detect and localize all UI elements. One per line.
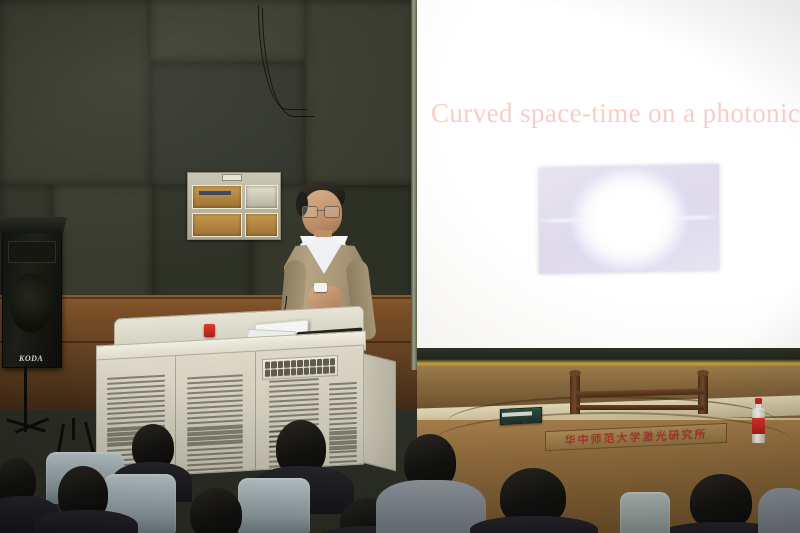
- vent-slot: [187, 389, 243, 394]
- vent-slot: [329, 382, 357, 386]
- vent-slot: [187, 384, 243, 389]
- control-button[interactable]: [278, 369, 283, 376]
- projection-screen: Curved space-time on a photonic: [417, 0, 800, 362]
- panel-cell: [192, 185, 242, 209]
- vent-slot: [269, 408, 319, 413]
- speaker-horn: [8, 241, 56, 263]
- control-button[interactable]: [291, 368, 296, 375]
- vent-slot: [269, 388, 319, 393]
- vent-slot: [329, 412, 357, 416]
- glasses-lens-right: [324, 206, 340, 218]
- bench-rail: [576, 405, 704, 410]
- vent-slot: [269, 383, 319, 388]
- control-button[interactable]: [271, 369, 276, 376]
- vent-slot: [329, 392, 357, 396]
- panel-cell: [192, 213, 242, 237]
- vent-slot: [187, 409, 243, 414]
- control-button[interactable]: [317, 367, 322, 374]
- book-pages: [502, 411, 532, 417]
- control-button[interactable]: [323, 367, 328, 374]
- vent-slot: [187, 399, 243, 404]
- audience-rows: [0, 418, 800, 533]
- wall-panel: [52, 185, 153, 306]
- vent-slot: [269, 403, 319, 408]
- audience-shoulders: [470, 516, 598, 533]
- podium-red-cup: [204, 324, 215, 337]
- wall-panel: [305, 0, 416, 186]
- glow-wing-right-icon: [671, 215, 719, 221]
- control-button[interactable]: [317, 359, 322, 366]
- vent-slot: [187, 404, 243, 409]
- audience-head: [190, 488, 242, 533]
- chair-back: [620, 492, 670, 533]
- vent-slot: [329, 387, 357, 391]
- bench-post-cap: [569, 370, 581, 376]
- vent-slot: [187, 379, 243, 384]
- electrical-panel: [187, 172, 281, 240]
- control-button[interactable]: [304, 360, 309, 367]
- control-button[interactable]: [271, 361, 276, 368]
- control-button[interactable]: [297, 368, 302, 375]
- screen-bottom-trim: [417, 348, 800, 368]
- podium-control-panel[interactable]: [262, 355, 338, 380]
- speaker-brand-badge: KODA: [19, 354, 43, 363]
- control-button[interactable]: [330, 358, 335, 365]
- control-button[interactable]: [310, 367, 315, 374]
- vent-slot: [187, 374, 243, 379]
- audience-shoulders: [34, 510, 138, 533]
- control-button[interactable]: [297, 360, 302, 367]
- panel-cell: [245, 213, 278, 237]
- bottle-cap: [755, 398, 762, 404]
- vent-slot: [269, 393, 319, 398]
- control-button[interactable]: [284, 361, 289, 368]
- control-button[interactable]: [284, 369, 289, 376]
- vent-slot: [187, 394, 243, 399]
- panel-cell: [245, 185, 278, 209]
- control-button[interactable]: [278, 361, 283, 368]
- audience-shoulders: [376, 480, 486, 533]
- pa-speaker-cabinet: KODA: [2, 228, 62, 368]
- vent-slot: [269, 398, 319, 403]
- slide-figure: [539, 164, 719, 274]
- vent-slot: [329, 402, 357, 406]
- presentation-remote: [314, 283, 327, 292]
- vent-slot: [329, 407, 357, 411]
- control-button[interactable]: [291, 360, 296, 367]
- panel-tab: [222, 174, 242, 181]
- audience-shoulders: [758, 488, 800, 533]
- stage-bench: [570, 374, 710, 414]
- glasses-icon: [302, 206, 340, 216]
- control-button[interactable]: [304, 368, 309, 375]
- glasses-lens-left: [302, 206, 318, 218]
- bench-rail: [576, 388, 704, 397]
- vent-slot: [329, 397, 357, 401]
- chair-back: [238, 478, 310, 533]
- control-button[interactable]: [330, 366, 335, 373]
- speaker-woofer-icon: [10, 273, 52, 333]
- wall-panel: [0, 0, 151, 186]
- breaker-strip: [199, 191, 231, 195]
- slide-title: Curved space-time on a photonic: [431, 98, 800, 129]
- control-button[interactable]: [310, 359, 315, 366]
- control-button[interactable]: [265, 370, 270, 377]
- bench-post-cap: [697, 370, 709, 376]
- control-button[interactable]: [323, 359, 328, 366]
- lecture-hall-screenshot: Curved space-time on a photonic KODA: [0, 0, 800, 533]
- control-button[interactable]: [265, 362, 270, 369]
- speaker-top-face: [0, 217, 67, 233]
